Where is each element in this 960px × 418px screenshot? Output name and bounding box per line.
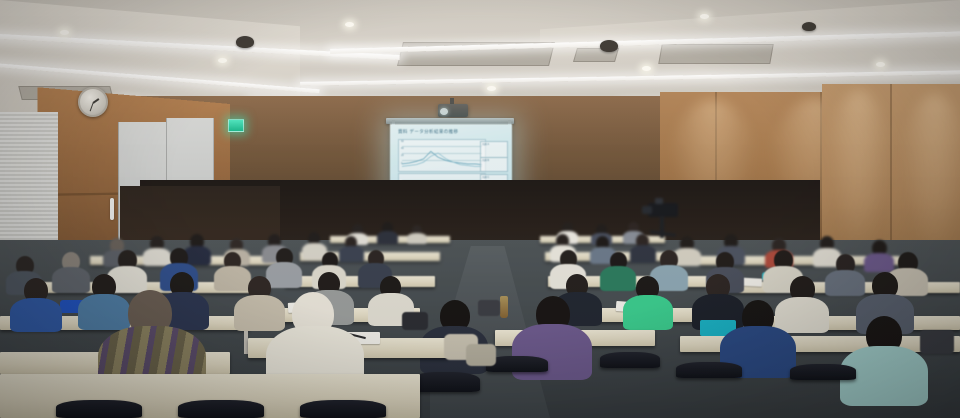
chair bbox=[56, 400, 142, 418]
person-body bbox=[234, 295, 285, 331]
person-body bbox=[864, 253, 894, 272]
ceiling-downlight bbox=[218, 58, 227, 63]
ceiling-downlight bbox=[487, 86, 496, 91]
water-bottle bbox=[500, 296, 508, 318]
person-body bbox=[143, 248, 171, 266]
person-body bbox=[407, 233, 427, 244]
person-body bbox=[623, 295, 673, 330]
person-body bbox=[600, 266, 636, 291]
floor-bag bbox=[466, 344, 496, 366]
floor-bag bbox=[402, 312, 428, 330]
person-body bbox=[10, 298, 62, 332]
clock-minute-hand bbox=[89, 102, 93, 111]
chair bbox=[790, 364, 856, 380]
door-handle[interactable] bbox=[110, 198, 114, 220]
slide-chart-upper: 60 40 20 0 bbox=[398, 139, 486, 172]
floor-bag bbox=[920, 330, 954, 354]
camera-viewfinder bbox=[655, 198, 663, 204]
ceiling-speaker bbox=[600, 40, 618, 52]
slide-legend-b: 凡例 B bbox=[480, 157, 508, 172]
slide-legend-a: 凡例 A bbox=[480, 141, 508, 158]
chair bbox=[410, 372, 480, 392]
person-body bbox=[825, 270, 865, 296]
ceiling-downlight bbox=[642, 66, 651, 71]
person-body bbox=[377, 231, 398, 244]
ceiling-downlight bbox=[876, 62, 885, 67]
ceiling-downlight bbox=[345, 22, 354, 27]
person-body bbox=[339, 246, 364, 262]
chair bbox=[300, 400, 386, 418]
person-body bbox=[630, 245, 656, 263]
projector-lens bbox=[440, 108, 448, 115]
chair bbox=[600, 352, 660, 368]
ceiling-speaker bbox=[802, 22, 816, 31]
camera-body bbox=[648, 203, 678, 217]
chair bbox=[178, 400, 264, 418]
ceiling-downlight bbox=[700, 14, 709, 19]
person-body bbox=[775, 297, 829, 333]
ceiling-vent bbox=[658, 44, 774, 64]
wall-wash-light bbox=[826, 90, 892, 260]
lecture-hall-photo: 資料 データ分析結果の推移 60 40 20 0 bbox=[0, 0, 960, 418]
slide-title: 資料 データ分析結果の推移 bbox=[398, 129, 504, 135]
ceiling-downlight bbox=[60, 30, 69, 35]
camera-lens bbox=[642, 206, 652, 214]
person-body bbox=[52, 267, 90, 293]
wall-clock bbox=[78, 87, 108, 117]
chair bbox=[676, 362, 742, 378]
person-body bbox=[266, 262, 302, 288]
floor-bag bbox=[478, 300, 500, 316]
ceiling-speaker bbox=[236, 36, 254, 48]
emergency-exit-sign bbox=[228, 119, 244, 132]
person-body bbox=[214, 266, 251, 291]
person-body bbox=[78, 294, 130, 330]
